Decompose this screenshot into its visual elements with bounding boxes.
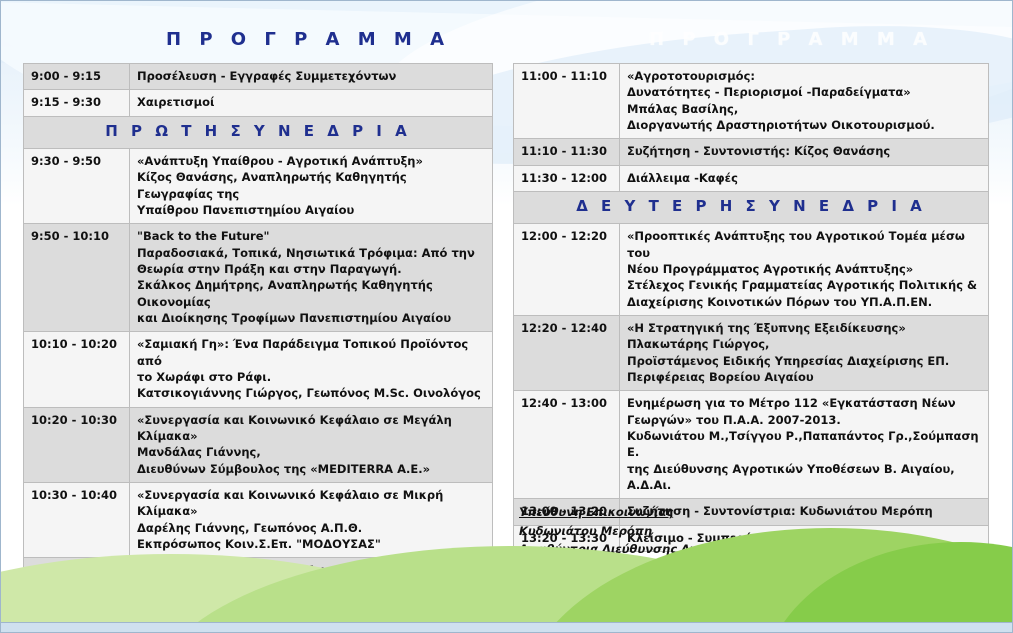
agenda-row-line: «Αγροτοτουρισμός: xyxy=(627,68,981,84)
session-header-label: Π Ρ Ω Τ Η Σ Υ Ν Ε Δ Ρ Ι Α xyxy=(24,116,493,148)
agenda-table-right: 11:00 - 11:10«Αγροτοτουρισμός:Δυνατότητε… xyxy=(513,63,989,552)
agenda-row-description: Χαιρετισμοί xyxy=(130,90,493,116)
agenda-row-line: Πλακωτάρης Γιώργος, xyxy=(627,336,981,352)
agenda-row-description: «Αγροτοτουρισμός:Δυνατότητες - Περιορισμ… xyxy=(620,64,989,139)
agenda-row-description: «Η Στρατηγική της Έξυπνης Εξειδίκευσης»Π… xyxy=(620,315,989,390)
page-title: Π Ρ Ο Γ Ρ Α Μ Μ Α xyxy=(166,29,450,50)
agenda-row-line: Σκάλκος Δημήτρης, Αναπληρωτής Καθηγητής … xyxy=(137,277,485,310)
agenda-row: 12:40 - 13:00Ενημέρωση για το Μέτρο 112 … xyxy=(514,391,989,499)
agenda-row-line: Κίζος Θανάσης, Αναπληρωτής Καθηγητής Γεω… xyxy=(137,169,485,202)
agenda-row: 11:00 - 11:10«Αγροτοτουρισμός:Δυνατότητε… xyxy=(514,64,989,139)
agenda-row-time: 10:10 - 10:20 xyxy=(24,332,130,407)
agenda-row-line: «Προοπτικές Ανάπτυξης του Αγροτικού Τομέ… xyxy=(627,228,981,261)
agenda-row-description: "Back to the Future"Παραδοσιακά, Τοπικά,… xyxy=(130,224,493,332)
agenda-row-line: Γεωργών» του Π.Α.Α. 2007-2013. xyxy=(627,412,981,428)
agenda-row-line: Παραδοσιακά, Τοπικά, Νησιωτικά Τρόφιμα: … xyxy=(137,245,485,261)
agenda-row: 11:10 - 11:30Συζήτηση - Συντονιστής: Κίζ… xyxy=(514,139,989,165)
agenda-row-line: «Συνεργασία και Κοινωνικό Κεφάλαιο σε Με… xyxy=(137,412,485,445)
agenda-row-line: «Η Στρατηγική της Έξυπνης Εξειδίκευσης» xyxy=(627,320,981,336)
agenda-row-line: το Χωράφι στο Ράφι. xyxy=(137,369,485,385)
agenda-row-line: Δυνατότητες - Περιορισμοί -Παραδείγματα» xyxy=(627,84,981,100)
agenda-row-time: 12:20 - 12:40 xyxy=(514,315,620,390)
agenda-row-line: Συζήτηση - Συντονιστής: Κίζος Θανάσης xyxy=(627,143,981,159)
agenda-row-description: «Προοπτικές Ανάπτυξης του Αγροτικού Τομέ… xyxy=(620,224,989,316)
program-slide: Π Ρ Ο Γ Ρ Α Μ Μ Α Π Ρ Ο Γ Ρ Α Μ Μ Α 9:00… xyxy=(0,0,1013,633)
agenda-row: 12:20 - 12:40«Η Στρατηγική της Έξυπνης Ε… xyxy=(514,315,989,390)
agenda-row: 9:15 - 9:30Χαιρετισμοί xyxy=(24,90,493,116)
agenda-row: 9:50 - 10:10"Back to the Future"Παραδοσι… xyxy=(24,224,493,332)
agenda-row-line: Προϊστάμενος Ειδικής Υπηρεσίας Διαχείρισ… xyxy=(627,353,981,369)
agenda-row: 9:00 - 9:15Προσέλευση - Εγγραφές Συμμετε… xyxy=(24,64,493,90)
agenda-row-time: 11:30 - 12:00 xyxy=(514,165,620,191)
hills-background xyxy=(1,506,1013,632)
agenda-row-description: Ενημέρωση για το Μέτρο 112 «Εγκατάσταση … xyxy=(620,391,989,499)
agenda-row-time: 9:00 - 9:15 xyxy=(24,64,130,90)
session-header-row: Δ Ε Υ Τ Ε Ρ Η Σ Υ Ν Ε Δ Ρ Ι Α xyxy=(514,191,989,223)
agenda-row-time: 9:50 - 10:10 xyxy=(24,224,130,332)
agenda-row-time: 11:10 - 11:30 xyxy=(514,139,620,165)
agenda-row-line: Μανδάλας Γιάννης, xyxy=(137,444,485,460)
agenda-row-line: Θεωρία στην Πράξη και στην Παραγωγή. xyxy=(137,261,485,277)
agenda-row-time: 9:15 - 9:30 xyxy=(24,90,130,116)
agenda-row: 10:10 - 10:20«Σαμιακή Γη»: Ένα Παράδειγμ… xyxy=(24,332,493,407)
agenda-row-line: «Σαμιακή Γη»: Ένα Παράδειγμα Τοπικού Προ… xyxy=(137,336,485,369)
agenda-right-body: 11:00 - 11:10«Αγροτοτουρισμός:Δυνατότητε… xyxy=(514,64,989,552)
page-title-watermark: Π Ρ Ο Γ Ρ Α Μ Μ Α xyxy=(649,29,933,50)
agenda-row-line: Διαχείρισης Κοινοτικών Πόρων του ΥΠ.Α.Π.… xyxy=(627,294,981,310)
agenda-row-time: 10:20 - 10:30 xyxy=(24,407,130,482)
agenda-row: 9:30 - 9:50«Ανάπτυξη Υπαίθρου - Αγροτική… xyxy=(24,148,493,223)
agenda-row-description: Διάλλειμα -Καφές xyxy=(620,165,989,191)
agenda-row: 10:20 - 10:30«Συνεργασία και Κοινωνικό Κ… xyxy=(24,407,493,482)
agenda-row-line: της Διεύθυνσης Αγροτικών Υποθέσεων Β. Αι… xyxy=(627,461,981,494)
agenda-row-line: Στέλεχος Γενικής Γραμματείας Αγροτικής Π… xyxy=(627,277,981,293)
agenda-row: 12:00 - 12:20«Προοπτικές Ανάπτυξης του Α… xyxy=(514,224,989,316)
agenda-row-line: Μπάλας Βασίλης, xyxy=(627,101,981,117)
agenda-row-line: Περιφέρειας Βορείου Αιγαίου xyxy=(627,369,981,385)
session-header-row: Π Ρ Ω Τ Η Σ Υ Ν Ε Δ Ρ Ι Α xyxy=(24,116,493,148)
agenda-row-line: Υπαίθρου Πανεπιστημίου Αιγαίου xyxy=(137,202,485,218)
agenda-row-description: «Συνεργασία και Κοινωνικό Κεφάλαιο σε Με… xyxy=(130,407,493,482)
agenda-row-description: Προσέλευση - Εγγραφές Συμμετεχόντων xyxy=(130,64,493,90)
agenda-row-line: Διάλλειμα -Καφές xyxy=(627,170,981,186)
agenda-row-line: Κατσικογιάννης Γιώργος, Γεωπόνος M.Sc. Ο… xyxy=(137,385,485,401)
footer-strip xyxy=(1,623,1013,632)
agenda-row-line: Διοργανωτής Δραστηριοτήτων Οικοτουρισμού… xyxy=(627,117,981,133)
agenda-row-description: «Ανάπτυξη Υπαίθρου - Αγροτική Ανάπτυξη»Κ… xyxy=(130,148,493,223)
session-header-label: Δ Ε Υ Τ Ε Ρ Η Σ Υ Ν Ε Δ Ρ Ι Α xyxy=(514,191,989,223)
agenda-row-description: Συζήτηση - Συντονιστής: Κίζος Θανάσης xyxy=(620,139,989,165)
agenda-row-line: Νέου Προγράμματος Αγροτικής Ανάπτυξης» xyxy=(627,261,981,277)
agenda-row-line: "Back to the Future" xyxy=(137,228,485,244)
agenda-row-time: 11:00 - 11:10 xyxy=(514,64,620,139)
agenda-row-line: Ενημέρωση για το Μέτρο 112 «Εγκατάσταση … xyxy=(627,395,981,411)
agenda-row-line: «Ανάπτυξη Υπαίθρου - Αγροτική Ανάπτυξη» xyxy=(137,153,485,169)
agenda-row-line: Κυδωνιάτου Μ.,Τσίγγου Ρ.,Παπαπάντος Γρ.,… xyxy=(627,428,981,461)
agenda-row-line: Χαιρετισμοί xyxy=(137,94,485,110)
agenda-row-time: 9:30 - 9:50 xyxy=(24,148,130,223)
agenda-row-time: 12:00 - 12:20 xyxy=(514,224,620,316)
agenda-row-description: «Σαμιακή Γη»: Ένα Παράδειγμα Τοπικού Προ… xyxy=(130,332,493,407)
agenda-row-line: Διευθύνων Σύμβουλος της «MEDITERRA Α.Ε.» xyxy=(137,461,485,477)
agenda-row-line: Προσέλευση - Εγγραφές Συμμετεχόντων xyxy=(137,68,485,84)
agenda-row: 11:30 - 12:00Διάλλειμα -Καφές xyxy=(514,165,989,191)
agenda-row-time: 12:40 - 13:00 xyxy=(514,391,620,499)
agenda-row-line: και Διοίκησης Τροφίμων Πανεπιστημίου Αιγ… xyxy=(137,310,485,326)
